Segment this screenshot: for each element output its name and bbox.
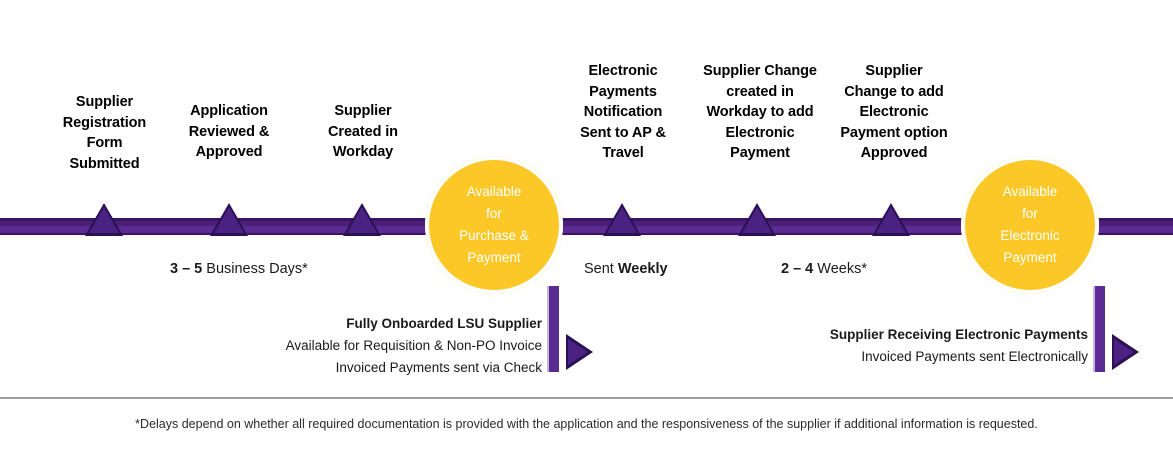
callout-text-block: Fully Onboarded LSU Supplier Available f…: [240, 313, 542, 379]
callout-arrow-receiving-electronic-payments: [1112, 334, 1139, 370]
text-line: Payment: [1000, 247, 1059, 269]
stage-circle-label: AvailableforPurchase &Payment: [449, 181, 539, 269]
milestone-label-application-reviewed-approved: ApplicationReviewed &Approved: [150, 101, 308, 163]
text-line: Notification: [548, 102, 698, 123]
callout-line: Available for Requisition & Non-PO Invoi…: [240, 335, 542, 357]
duration-rest: Weeks*: [813, 261, 867, 277]
text-line: Supplier: [289, 101, 437, 122]
duration-prefix: Sent: [584, 261, 618, 277]
text-line: Travel: [548, 143, 698, 164]
text-line: Application: [150, 101, 308, 122]
text-line: Electronic: [686, 123, 834, 144]
milestone-marker-supplier-registration-form-submitted: [85, 203, 123, 236]
text-line: Workday: [289, 142, 437, 163]
text-line: Created in: [289, 122, 437, 143]
duration-emphasis: 2 – 4: [781, 261, 813, 277]
callout-bar-fully-onboarded: [547, 286, 559, 372]
text-line: Purchase &: [459, 225, 529, 247]
stage-circle-available-for-electronic-payment: AvailableforElectronicPayment: [961, 156, 1099, 294]
text-line: Available: [1000, 181, 1059, 203]
text-line: Supplier Change: [686, 61, 834, 82]
duration-emphasis: Weekly: [618, 261, 668, 277]
callout-title: Fully Onboarded LSU Supplier: [240, 313, 542, 335]
text-line: Payment: [686, 143, 834, 164]
duration-label-change-to-approval: 2 – 4 Weeks*: [781, 261, 867, 277]
text-line: Approved: [150, 142, 308, 163]
duration-label-registration-to-review: 3 – 5 Business Days*: [170, 261, 308, 277]
milestone-label-supplier-change-approved: SupplierChange to addElectronicPayment o…: [818, 61, 970, 164]
milestone-marker-supplier-change-approved: [872, 203, 910, 236]
footnote-text: *Delays depend on whether all required d…: [0, 417, 1173, 431]
milestone-marker-electronic-payments-notification-sent: [603, 203, 641, 236]
milestone-marker-supplier-change-created-in-workday: [738, 203, 776, 236]
milestone-marker-application-reviewed-approved: [210, 203, 248, 236]
text-line: Approved: [818, 143, 970, 164]
text-line: Electronic: [818, 102, 970, 123]
milestone-marker-supplier-created-in-workday: [343, 203, 381, 236]
text-line: for: [1000, 203, 1059, 225]
duration-emphasis: 3 – 5: [170, 261, 202, 277]
timeline-diagram: SupplierRegistrationFormSubmitted Applic…: [0, 0, 1173, 463]
text-line: created in: [686, 82, 834, 103]
text-line: Payment option: [818, 123, 970, 144]
text-line: Available: [459, 181, 529, 203]
text-line: for: [459, 203, 529, 225]
milestone-label-electronic-payments-notification-sent: ElectronicPaymentsNotificationSent to AP…: [548, 61, 698, 164]
text-line: Workday to add: [686, 102, 834, 123]
text-line: Sent to AP &: [548, 123, 698, 144]
text-line: Change to add: [818, 82, 970, 103]
callout-title: Supplier Receiving Electronic Payments: [780, 324, 1088, 346]
text-line: Electronic: [548, 61, 698, 82]
footnote-divider: [0, 397, 1173, 399]
callout-line: Invoiced Payments sent Electronically: [780, 346, 1088, 368]
text-line: Reviewed &: [150, 122, 308, 143]
text-line: Supplier: [818, 61, 970, 82]
callout-text-block: Supplier Receiving Electronic Payments I…: [780, 324, 1088, 368]
callout-bar-receiving-electronic-payments: [1093, 286, 1105, 372]
stage-circle-available-for-purchase-payment: AvailableforPurchase &Payment: [425, 156, 563, 294]
text-line: Electronic: [1000, 225, 1059, 247]
callout-supplier-receiving-electronic-payments: Supplier Receiving Electronic Payments I…: [780, 324, 1088, 368]
callout-arrow-fully-onboarded: [566, 334, 593, 370]
callout-fully-onboarded-lsu-supplier: Fully Onboarded LSU Supplier Available f…: [240, 313, 542, 379]
duration-label-notification-cadence: Sent Weekly: [584, 261, 668, 277]
callout-line: Invoiced Payments sent via Check: [240, 357, 542, 379]
stage-circle-label: AvailableforElectronicPayment: [990, 181, 1069, 269]
text-line: Payment: [459, 247, 529, 269]
text-line: Payments: [548, 82, 698, 103]
milestone-label-supplier-created-in-workday: SupplierCreated inWorkday: [289, 101, 437, 163]
milestone-label-supplier-change-created-in-workday: Supplier Changecreated inWorkday to addE…: [686, 61, 834, 164]
duration-rest: Business Days*: [202, 261, 308, 277]
